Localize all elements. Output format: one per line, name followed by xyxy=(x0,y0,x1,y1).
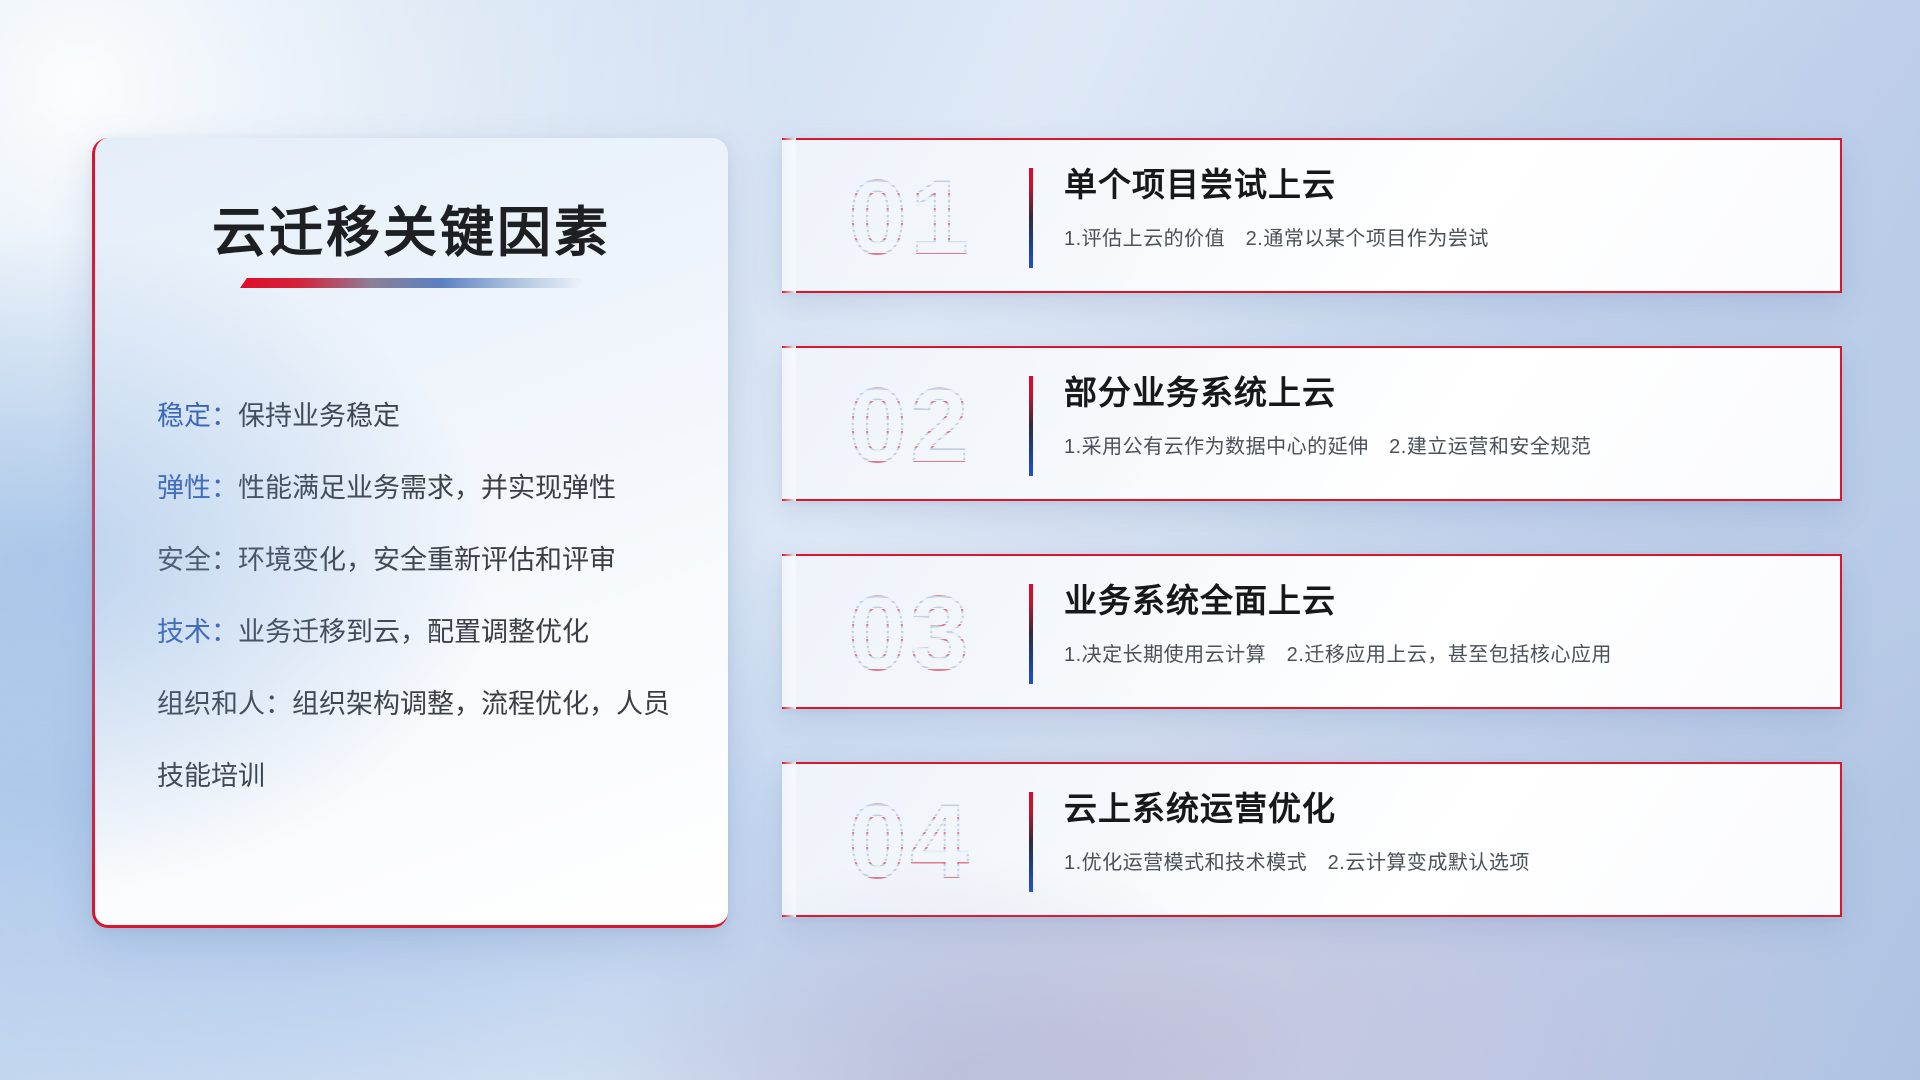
stage-number-glitch-overlay: 02 xyxy=(818,358,1003,494)
factor-row: 组织和人：组织架构调整，流程优化，人员技能培训 xyxy=(157,668,692,812)
card-description: 1.采用公有云作为数据中心的延伸 2.建立运营和安全规范 xyxy=(1064,430,1810,459)
stage-card-list: 0101单个项目尝试上云1.评估上云的价值 2.通常以某个项目作为尝试0202部… xyxy=(782,138,1842,970)
stage-card[interactable]: 0303业务系统全面上云1.决定长期使用云计算 2.迁移应用上云，甚至包括核心应… xyxy=(782,554,1842,709)
card-description: 1.优化运营模式和技术模式 2.云计算变成默认选项 xyxy=(1064,846,1810,875)
stage-card[interactable]: 0404云上系统运营优化1.优化运营模式和技术模式 2.云计算变成默认选项 xyxy=(782,762,1842,917)
factor-label: 组织和人： xyxy=(157,689,292,719)
factor-row: 弹性：性能满足业务需求，并实现弹性 xyxy=(157,452,692,524)
key-factors-panel: 云迁移关键因素 稳定：保持业务稳定弹性：性能满足业务需求，并实现弹性安全：环境变… xyxy=(92,138,728,928)
factor-label: 弹性： xyxy=(157,473,238,503)
factor-label: 稳定： xyxy=(157,401,238,431)
factor-row: 技术：业务迁移到云，配置调整优化 xyxy=(157,596,692,668)
stage-number-glitch-overlay: 01 xyxy=(818,150,1003,286)
stage-number: 02 xyxy=(818,358,1003,494)
card-body: 单个项目尝试上云1.评估上云的价值 2.通常以某个项目作为尝试 xyxy=(1064,158,1810,251)
card-title: 单个项目尝试上云 xyxy=(1064,158,1810,212)
stage-number: 04 xyxy=(818,774,1003,910)
factor-label: 技术： xyxy=(157,617,238,647)
card-accent-divider xyxy=(1029,792,1033,892)
card-accent-divider xyxy=(1029,168,1033,268)
card-title: 业务系统全面上云 xyxy=(1064,574,1810,628)
factor-row: 稳定：保持业务稳定 xyxy=(157,380,692,452)
factor-text: 业务迁移到云，配置调整优化 xyxy=(238,617,589,647)
slide-canvas: 云迁移关键因素 稳定：保持业务稳定弹性：性能满足业务需求，并实现弹性安全：环境变… xyxy=(0,0,1920,1080)
title-underline-rule xyxy=(240,278,585,288)
factor-row: 安全：环境变化，安全重新评估和评审 xyxy=(157,524,692,596)
card-body: 部分业务系统上云1.采用公有云作为数据中心的延伸 2.建立运营和安全规范 xyxy=(1064,366,1810,459)
stage-number: 01 xyxy=(818,150,1003,286)
factor-text: 性能满足业务需求，并实现弹性 xyxy=(238,473,616,503)
page-title: 云迁移关键因素 xyxy=(95,188,728,267)
card-title: 部分业务系统上云 xyxy=(1064,366,1810,420)
stage-card[interactable]: 0202部分业务系统上云1.采用公有云作为数据中心的延伸 2.建立运营和安全规范 xyxy=(782,346,1842,501)
card-accent-divider xyxy=(1029,584,1033,684)
card-body: 业务系统全面上云1.决定长期使用云计算 2.迁移应用上云，甚至包括核心应用 xyxy=(1064,574,1810,667)
stage-number-glitch-overlay: 03 xyxy=(818,566,1003,702)
factor-list: 稳定：保持业务稳定弹性：性能满足业务需求，并实现弹性安全：环境变化，安全重新评估… xyxy=(157,380,692,812)
card-description: 1.评估上云的价值 2.通常以某个项目作为尝试 xyxy=(1064,222,1810,251)
card-body: 云上系统运营优化1.优化运营模式和技术模式 2.云计算变成默认选项 xyxy=(1064,782,1810,875)
card-accent-divider xyxy=(1029,376,1033,476)
card-title: 云上系统运营优化 xyxy=(1064,782,1810,836)
factor-text: 保持业务稳定 xyxy=(238,401,400,431)
stage-number: 03 xyxy=(818,566,1003,702)
stage-number-glitch-overlay: 04 xyxy=(818,774,1003,910)
stage-card[interactable]: 0101单个项目尝试上云1.评估上云的价值 2.通常以某个项目作为尝试 xyxy=(782,138,1842,293)
card-description: 1.决定长期使用云计算 2.迁移应用上云，甚至包括核心应用 xyxy=(1064,638,1810,667)
factor-text: 环境变化，安全重新评估和评审 xyxy=(238,545,616,575)
factor-label: 安全： xyxy=(157,545,238,575)
